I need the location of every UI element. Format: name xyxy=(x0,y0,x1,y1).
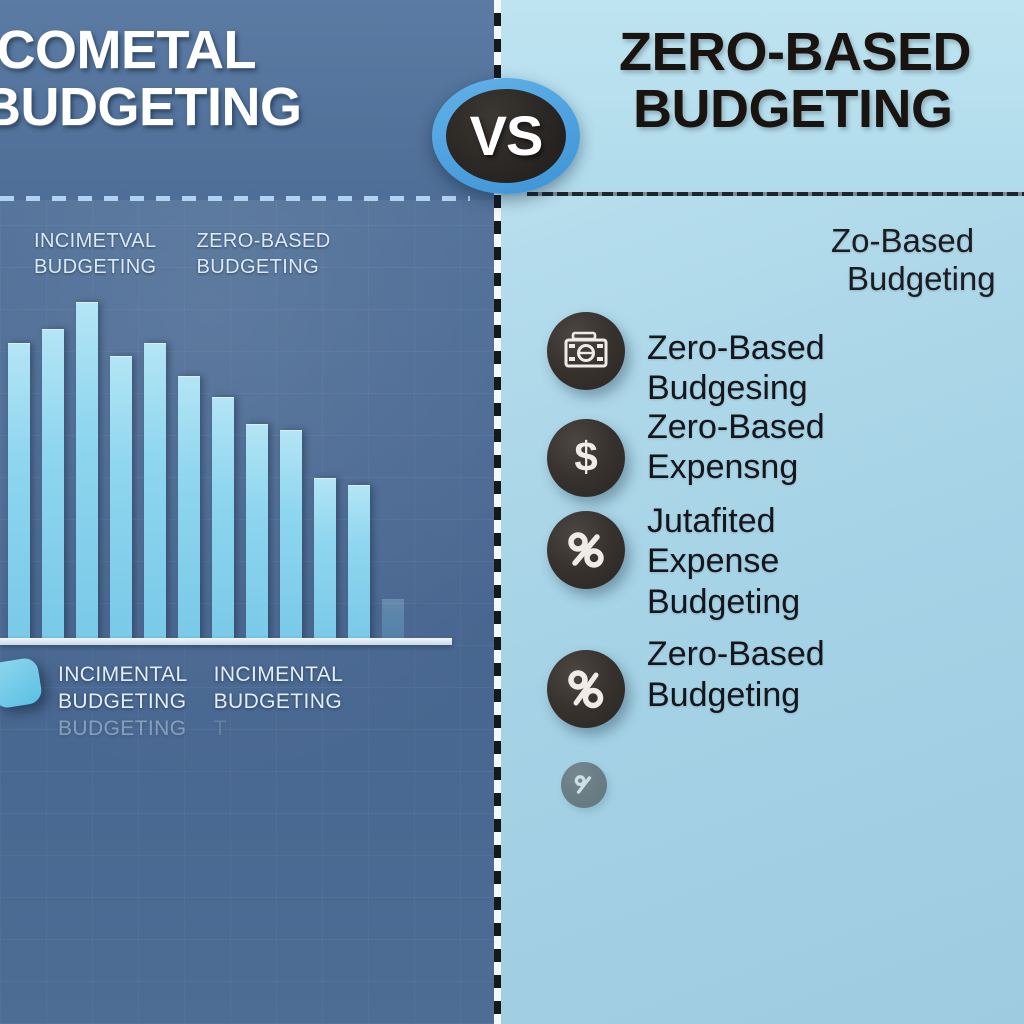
vs-badge-label: VS xyxy=(470,108,543,164)
list-item-label: Zero-Based Expensng xyxy=(647,407,825,488)
left-title-line1: ICOMETAL xyxy=(0,22,452,79)
list-item[interactable]: Jutafited Expense Budgeting xyxy=(547,511,1017,622)
chart-bar xyxy=(246,424,268,640)
right-subheading: Zo-Based Budgeting xyxy=(831,222,996,299)
percent-icon xyxy=(561,762,607,808)
list-item-label: Zero-Based Budgesing xyxy=(647,328,825,409)
chart-legend: INCIMETVAL BUDGETING ZERO-BASED BUDGETIN… xyxy=(34,228,331,281)
list-item-3-line1: Zero-Based xyxy=(647,635,825,673)
bottom-label-2: INCIMENTAL BUDGETING T xyxy=(214,662,344,743)
chart-bar xyxy=(178,376,200,640)
left-header-band: ICOMETAL BUDGETING xyxy=(0,0,500,200)
svg-text:$: $ xyxy=(574,434,597,480)
right-header-dashed-rule xyxy=(527,192,1024,196)
list-item-2-line1: Jutafited xyxy=(647,502,776,540)
left-panel-incremental: ICOMETAL BUDGETING INCIMETVAL BUDGETING … xyxy=(0,0,500,1024)
list-item-1-line1: Zero-Based xyxy=(647,408,825,446)
chart-baseline-axis xyxy=(0,638,452,645)
vs-badge-core: VS xyxy=(446,89,566,183)
cash-register-icon xyxy=(547,312,625,390)
right-title-line2: BUDGETING xyxy=(633,81,971,138)
chart-bar xyxy=(42,329,64,640)
list-item-2-line2: Expense xyxy=(647,541,800,581)
chart-bar xyxy=(76,302,98,640)
bottom-label-1: INCIMENTAL BUDGETING BUDGETING xyxy=(58,662,188,743)
left-panel-title: ICOMETAL BUDGETING xyxy=(0,22,452,136)
list-item-label: Zero-Based Budgeting xyxy=(647,634,825,715)
chart-bar xyxy=(314,478,336,640)
chart-bar xyxy=(348,485,370,640)
bottom-label-1-line2: BUDGETING xyxy=(58,689,188,716)
percent-icon xyxy=(547,511,625,589)
bottom-label-2-line2: BUDGETING xyxy=(214,689,344,716)
list-item-label: Jutafited Expense Budgeting xyxy=(647,501,800,622)
legend-item-zero-based-line1: ZERO-BASED xyxy=(197,230,331,252)
list-item-1-line2: Expensng xyxy=(647,447,825,487)
bottom-label-2-line1: INCIMENTAL xyxy=(214,663,344,686)
chart-bar xyxy=(212,397,234,640)
bottom-label-1-line3: BUDGETING xyxy=(58,716,188,743)
right-title-line1: ZERO-BASED xyxy=(619,24,971,81)
chart-bar xyxy=(110,356,132,640)
infographic-canvas: ICOMETAL BUDGETING INCIMETVAL BUDGETING … xyxy=(0,0,1024,1024)
list-item[interactable]: Zero-Based Budgesing xyxy=(547,312,1017,409)
right-subheading-line1: Zo-Based xyxy=(831,222,974,259)
left-title-line2: BUDGETING xyxy=(0,79,452,136)
legend-item-incremental-line2: BUDGETING xyxy=(34,254,157,280)
bar-chart xyxy=(0,300,450,640)
bottom-label-1-line1: INCIMENTAL xyxy=(58,663,188,686)
legend-item-incremental-line1: INCIMETVAL xyxy=(34,230,157,252)
chart-bar xyxy=(280,430,302,640)
legend-item-zero-based-line2: BUDGETING xyxy=(197,254,331,280)
bottom-label-2-line3: T xyxy=(214,716,344,743)
list-item-0-line1: Zero-Based xyxy=(647,329,825,367)
left-bottom-labels: INCIMENTAL BUDGETING BUDGETING INCIMENTA… xyxy=(58,662,343,743)
legend-item-zero-based: ZERO-BASED BUDGETING xyxy=(197,228,331,281)
list-item-2-line3: Budgeting xyxy=(647,582,800,622)
list-item[interactable]: $ Zero-Based Expensng xyxy=(547,419,1017,497)
list-item-3-line2: Budgeting xyxy=(647,675,825,715)
dollar-sign-icon: $ xyxy=(547,419,625,497)
chart-bar xyxy=(144,343,166,640)
vs-badge: VS xyxy=(432,78,580,194)
list-item[interactable]: Zero-Based Budgeting xyxy=(547,650,1017,728)
right-subheading-line2: Budgeting xyxy=(847,260,996,298)
right-panel-title: ZERO-BASED BUDGETING xyxy=(619,24,971,138)
left-header-dashed-rule xyxy=(0,196,470,201)
feature-list: Zero-Based Budgesing $ Zero-Based Expens… xyxy=(547,318,1017,818)
legend-item-incremental: INCIMETVAL BUDGETING xyxy=(34,228,157,281)
chart-bar xyxy=(382,599,404,640)
percent-icon xyxy=(547,650,625,728)
list-item-0-line2: Budgesing xyxy=(647,368,825,408)
rounded-square-icon xyxy=(0,657,43,710)
chart-bar xyxy=(8,343,30,640)
list-item[interactable] xyxy=(561,762,1017,808)
